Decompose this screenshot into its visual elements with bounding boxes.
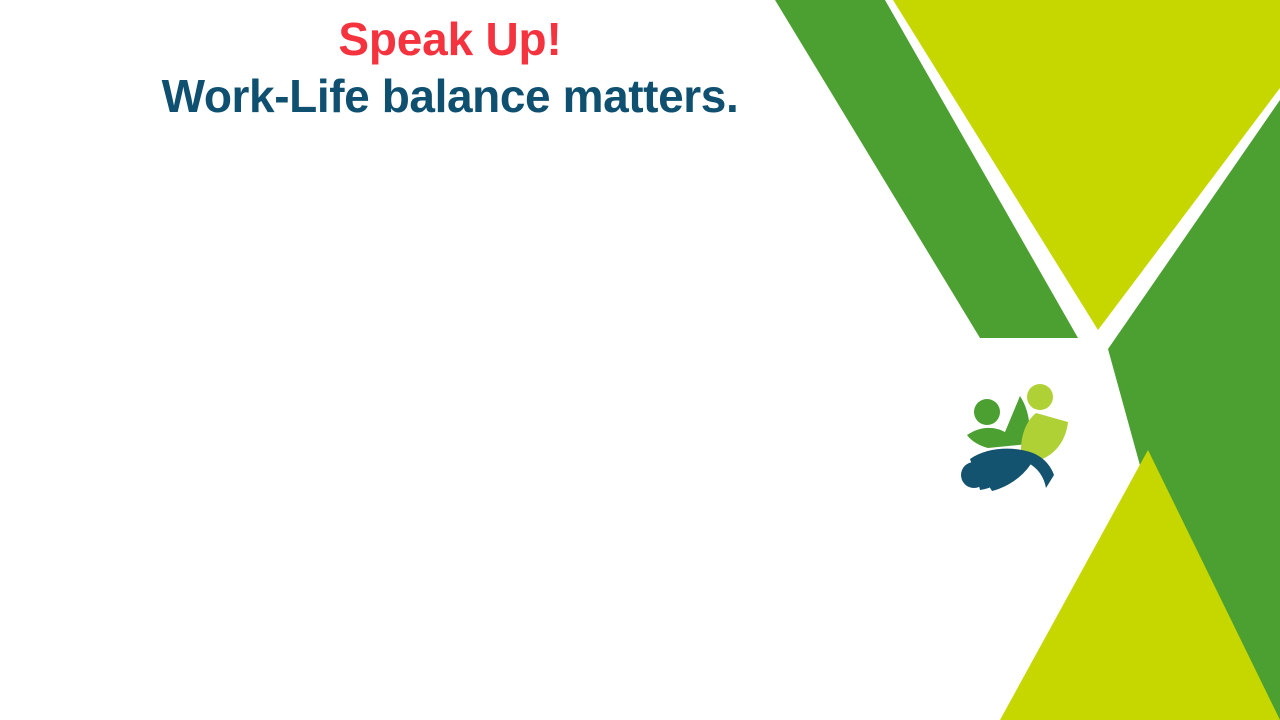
lime-figure [1021,384,1068,461]
right-green-wedge [1108,100,1280,720]
slide-canvas: Speak Up! Work-Life balance matters. [0,0,1280,720]
people-leaf-logo-icon [958,378,1088,503]
people-leaf-logo [958,378,1088,503]
headline-line-secondary: Work-Life balance matters. [0,71,900,122]
headline-line-primary: Speak Up! [0,14,900,65]
green-figure [967,396,1030,448]
top-lime-wedge [893,0,1280,330]
headline-block: Speak Up! Work-Life balance matters. [0,14,900,121]
